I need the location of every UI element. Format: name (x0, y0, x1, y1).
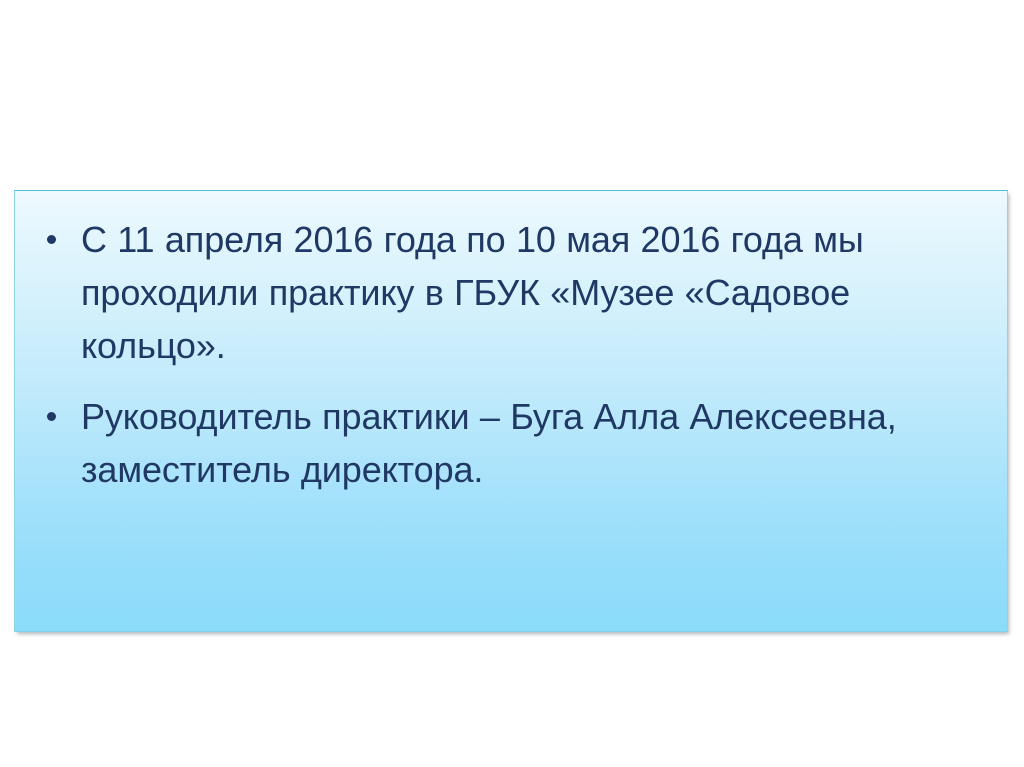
list-item: Руководитель практики – Буга Алла Алексе… (33, 390, 977, 496)
list-item-text: С 11 апреля 2016 года по 10 мая 2016 год… (81, 213, 977, 372)
content-panel: С 11 апреля 2016 года по 10 мая 2016 год… (14, 190, 1008, 632)
list-item: С 11 апреля 2016 года по 10 мая 2016 год… (33, 213, 977, 372)
bullet-dot-icon (47, 235, 56, 244)
bullet-list: С 11 апреля 2016 года по 10 мая 2016 год… (15, 191, 1007, 496)
slide-top-blank-area (0, 0, 1024, 190)
list-item-text: Руководитель практики – Буга Алла Алексе… (81, 390, 977, 496)
slide: С 11 апреля 2016 года по 10 мая 2016 год… (0, 0, 1024, 767)
bullet-dot-icon (47, 412, 56, 421)
